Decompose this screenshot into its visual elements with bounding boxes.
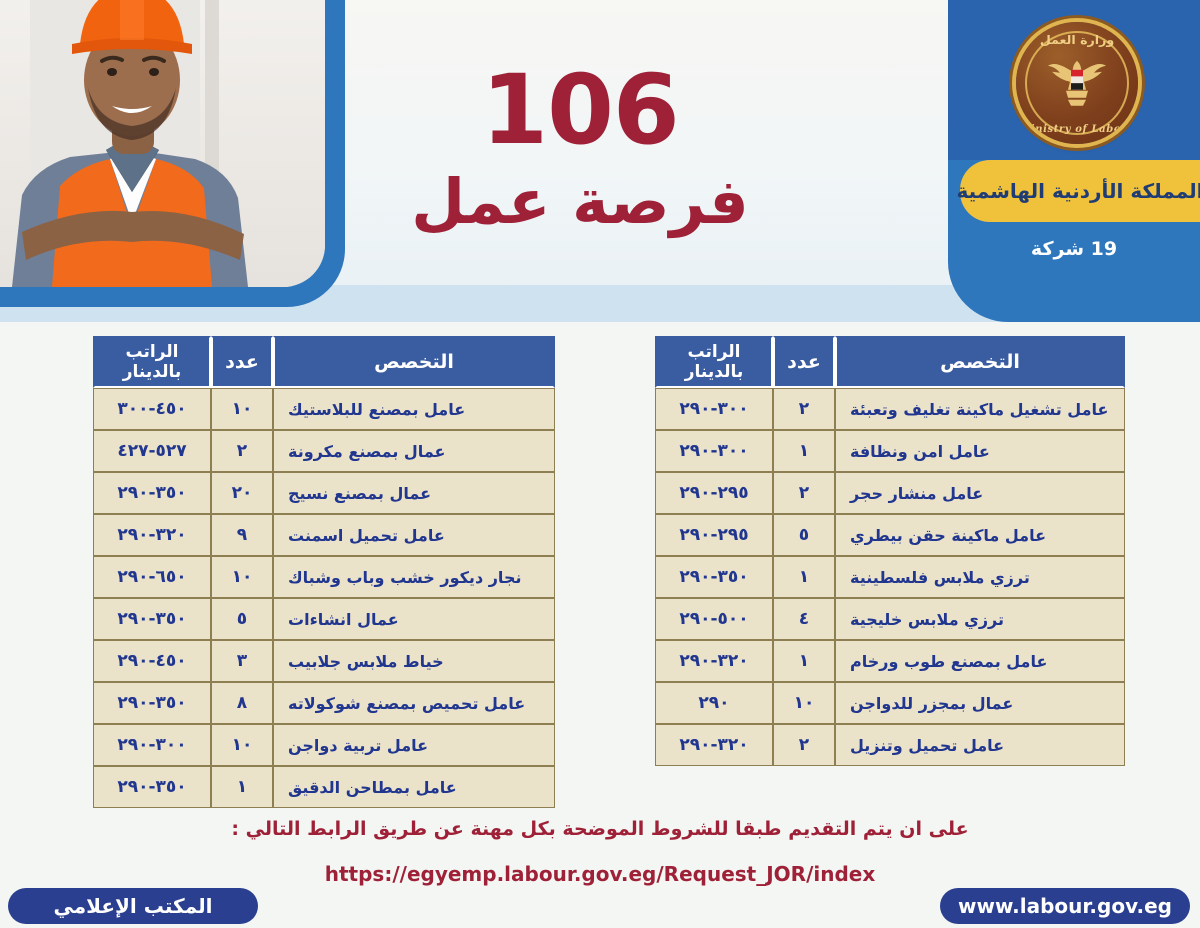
cell-salary: ٣٢٠-٢٩٠ [655, 724, 773, 766]
header-band: 106 فرصة عمل [0, 0, 1200, 322]
cell-count: ٤ [773, 598, 835, 640]
col-header-count: عدد [773, 336, 835, 388]
col-header-specialty: التخصص [835, 336, 1125, 388]
table-row: عامل تشغيل ماكينة تغليف وتعبئة٢٣٠٠-٢٩٠ [655, 388, 1125, 430]
table-row: ترزي ملابس خليجية٤٥٠٠-٢٩٠ [655, 598, 1125, 640]
cell-salary: ٣٥٠-٢٩٠ [655, 556, 773, 598]
cell-specialty: ترزي ملابس فلسطينية [835, 556, 1125, 598]
cell-count: ٥ [211, 598, 273, 640]
cell-count: ٢ [773, 388, 835, 430]
table-row: عامل امن ونظافة١٣٠٠-٢٩٠ [655, 430, 1125, 472]
cell-specialty: عامل تحميص بمصنع شوكولاته [273, 682, 555, 724]
cell-specialty: عامل امن ونظافة [835, 430, 1125, 472]
table-row: عامل بمصنع طوب ورخام١٣٢٠-٢٩٠ [655, 640, 1125, 682]
cell-salary: ٣٥٠-٢٩٠ [93, 766, 211, 808]
cell-count: ١٠ [773, 682, 835, 724]
media-office-badge: المكتب الإعلامي [8, 888, 258, 924]
cell-salary: ٢٩٥-٢٩٠ [655, 514, 773, 556]
cell-count: ١٠ [211, 724, 273, 766]
table-row: نجار ديكور خشب وباب وشباك١٠٦٥٠-٢٩٠ [93, 556, 555, 598]
cell-salary: ٥٢٧-٤٢٧ [93, 430, 211, 472]
cell-salary: ٤٥٠-٣٠٠ [93, 388, 211, 430]
kingdom-banner-label: المملكة الأردنية الهاشمية [957, 179, 1200, 203]
eagle-emblem-icon [1046, 51, 1108, 113]
table-row: عمال بمصنع مكرونة٢٥٢٧-٤٢٧ [93, 430, 555, 472]
jobs-table-left-wrap: التخصص عدد الراتب بالدينار عامل بمصنع لل… [93, 336, 555, 808]
media-office-label: المكتب الإعلامي [54, 894, 213, 918]
cell-specialty: عامل تحميل اسمنت [273, 514, 555, 556]
cell-salary: ٣٥٠-٢٩٠ [93, 682, 211, 724]
table-row: عامل بمطاحن الدقيق١٣٥٠-٢٩٠ [93, 766, 555, 808]
cell-specialty: عمال بمصنع نسيج [273, 472, 555, 514]
seal-arabic-text: وزارة العمل [1016, 33, 1138, 47]
table-row: عامل تحميل اسمنت٩٣٢٠-٢٩٠ [93, 514, 555, 556]
worker-photo [0, 0, 325, 287]
cell-specialty: عمال بمجزر للدواجن [835, 682, 1125, 724]
cell-count: ١ [773, 430, 835, 472]
cell-salary: ٣٠٠-٢٩٠ [655, 430, 773, 472]
cell-specialty: عامل ماكينة حقن بيطري [835, 514, 1125, 556]
table-row: عامل تحميل وتنزيل٢٣٢٠-٢٩٠ [655, 724, 1125, 766]
cell-salary: ٣٠٠-٢٩٠ [655, 388, 773, 430]
jobs-table-right-wrap: التخصص عدد الراتب بالدينار عامل تشغيل ما… [655, 336, 1125, 766]
cell-count: ٢٠ [211, 472, 273, 514]
table-row: عمال بمجزر للدواجن١٠٢٩٠ [655, 682, 1125, 724]
cell-specialty: عامل تشغيل ماكينة تغليف وتعبئة [835, 388, 1125, 430]
website-badge[interactable]: www.labour.gov.eg [940, 888, 1190, 924]
cell-specialty: عامل تربية دواجن [273, 724, 555, 766]
cell-salary: ٣٠٠-٢٩٠ [93, 724, 211, 766]
cell-count: ١ [211, 766, 273, 808]
ministry-seal-icon: وزارة العمل Ministry of Labour [1016, 22, 1138, 144]
worker-photo-icon [0, 0, 325, 287]
cell-salary: ٦٥٠-٢٩٠ [93, 556, 211, 598]
cell-count: ٩ [211, 514, 273, 556]
cell-salary: ٢٩٥-٢٩٠ [655, 472, 773, 514]
cell-specialty: عامل منشار حجر [835, 472, 1125, 514]
application-note: على ان يتم التقديم طبقا للشروط الموضحة ب… [0, 818, 1200, 840]
cell-count: ٢ [773, 724, 835, 766]
jobs-table-left: التخصص عدد الراتب بالدينار عامل بمصنع لل… [93, 336, 555, 808]
col-header-salary: الراتب بالدينار [655, 336, 773, 388]
cell-specialty: عمال بمصنع مكرونة [273, 430, 555, 472]
table-row: عامل ماكينة حقن بيطري٥٢٩٥-٢٩٠ [655, 514, 1125, 556]
table-header-row: التخصص عدد الراتب بالدينار [655, 336, 1125, 388]
table-row: عمال انشاءات٥٣٥٠-٢٩٠ [93, 598, 555, 640]
seal-english-text: Ministry of Labour [1016, 124, 1138, 135]
cell-salary: ٢٩٠ [655, 682, 773, 724]
jobs-table-right: التخصص عدد الراتب بالدينار عامل تشغيل ما… [655, 336, 1125, 766]
col-header-salary: الراتب بالدينار [93, 336, 211, 388]
cell-specialty: عامل تحميل وتنزيل [835, 724, 1125, 766]
col-header-specialty: التخصص [273, 336, 555, 388]
cell-specialty: عامل بمصنع طوب ورخام [835, 640, 1125, 682]
table-row: عامل تربية دواجن١٠٣٠٠-٢٩٠ [93, 724, 555, 766]
job-count-number: 106 [330, 62, 830, 158]
cell-salary: ٣٢٠-٢٩٠ [93, 514, 211, 556]
cell-count: ٣ [211, 640, 273, 682]
cell-specialty: نجار ديكور خشب وباب وشباك [273, 556, 555, 598]
table-header-row: التخصص عدد الراتب بالدينار [93, 336, 555, 388]
job-count-label: فرصة عمل [330, 168, 830, 236]
cell-salary: ٣٥٠-٢٩٠ [93, 472, 211, 514]
table-row: ترزي ملابس فلسطينية١٣٥٠-٢٩٠ [655, 556, 1125, 598]
cell-count: ١ [773, 640, 835, 682]
cell-specialty: عامل بمطاحن الدقيق [273, 766, 555, 808]
website-label: www.labour.gov.eg [958, 894, 1172, 918]
cell-count: ١٠ [211, 388, 273, 430]
table-row: عامل تحميص بمصنع شوكولاته٨٣٥٠-٢٩٠ [93, 682, 555, 724]
table-row: عامل منشار حجر٢٢٩٥-٢٩٠ [655, 472, 1125, 514]
cell-specialty: ترزي ملابس خليجية [835, 598, 1125, 640]
company-count: 19 شركة [948, 238, 1200, 260]
cell-salary: ٥٠٠-٢٩٠ [655, 598, 773, 640]
poster-canvas: 106 فرصة عمل [0, 0, 1200, 928]
cell-salary: ٣٢٠-٢٩٠ [655, 640, 773, 682]
cell-count: ٥ [773, 514, 835, 556]
table-row: عامل بمصنع للبلاستيك١٠٤٥٠-٣٠٠ [93, 388, 555, 430]
cell-count: ٢ [773, 472, 835, 514]
cell-count: ١٠ [211, 556, 273, 598]
cell-salary: ٤٥٠-٢٩٠ [93, 640, 211, 682]
col-header-count: عدد [211, 336, 273, 388]
cell-count: ٢ [211, 430, 273, 472]
cell-count: ٨ [211, 682, 273, 724]
cell-specialty: خياط ملابس جلابيب [273, 640, 555, 682]
page-title: 106 فرصة عمل [330, 62, 830, 236]
cell-specialty: عمال انشاءات [273, 598, 555, 640]
table-row: عمال بمصنع نسيج٢٠٣٥٠-٢٩٠ [93, 472, 555, 514]
cell-salary: ٣٥٠-٢٩٠ [93, 598, 211, 640]
kingdom-banner: المملكة الأردنية الهاشمية [960, 160, 1200, 222]
table-row: خياط ملابس جلابيب٣٤٥٠-٢٩٠ [93, 640, 555, 682]
application-link[interactable]: https://egyemp.labour.gov.eg/Request_JOR… [0, 862, 1200, 886]
cell-specialty: عامل بمصنع للبلاستيك [273, 388, 555, 430]
cell-count: ١ [773, 556, 835, 598]
